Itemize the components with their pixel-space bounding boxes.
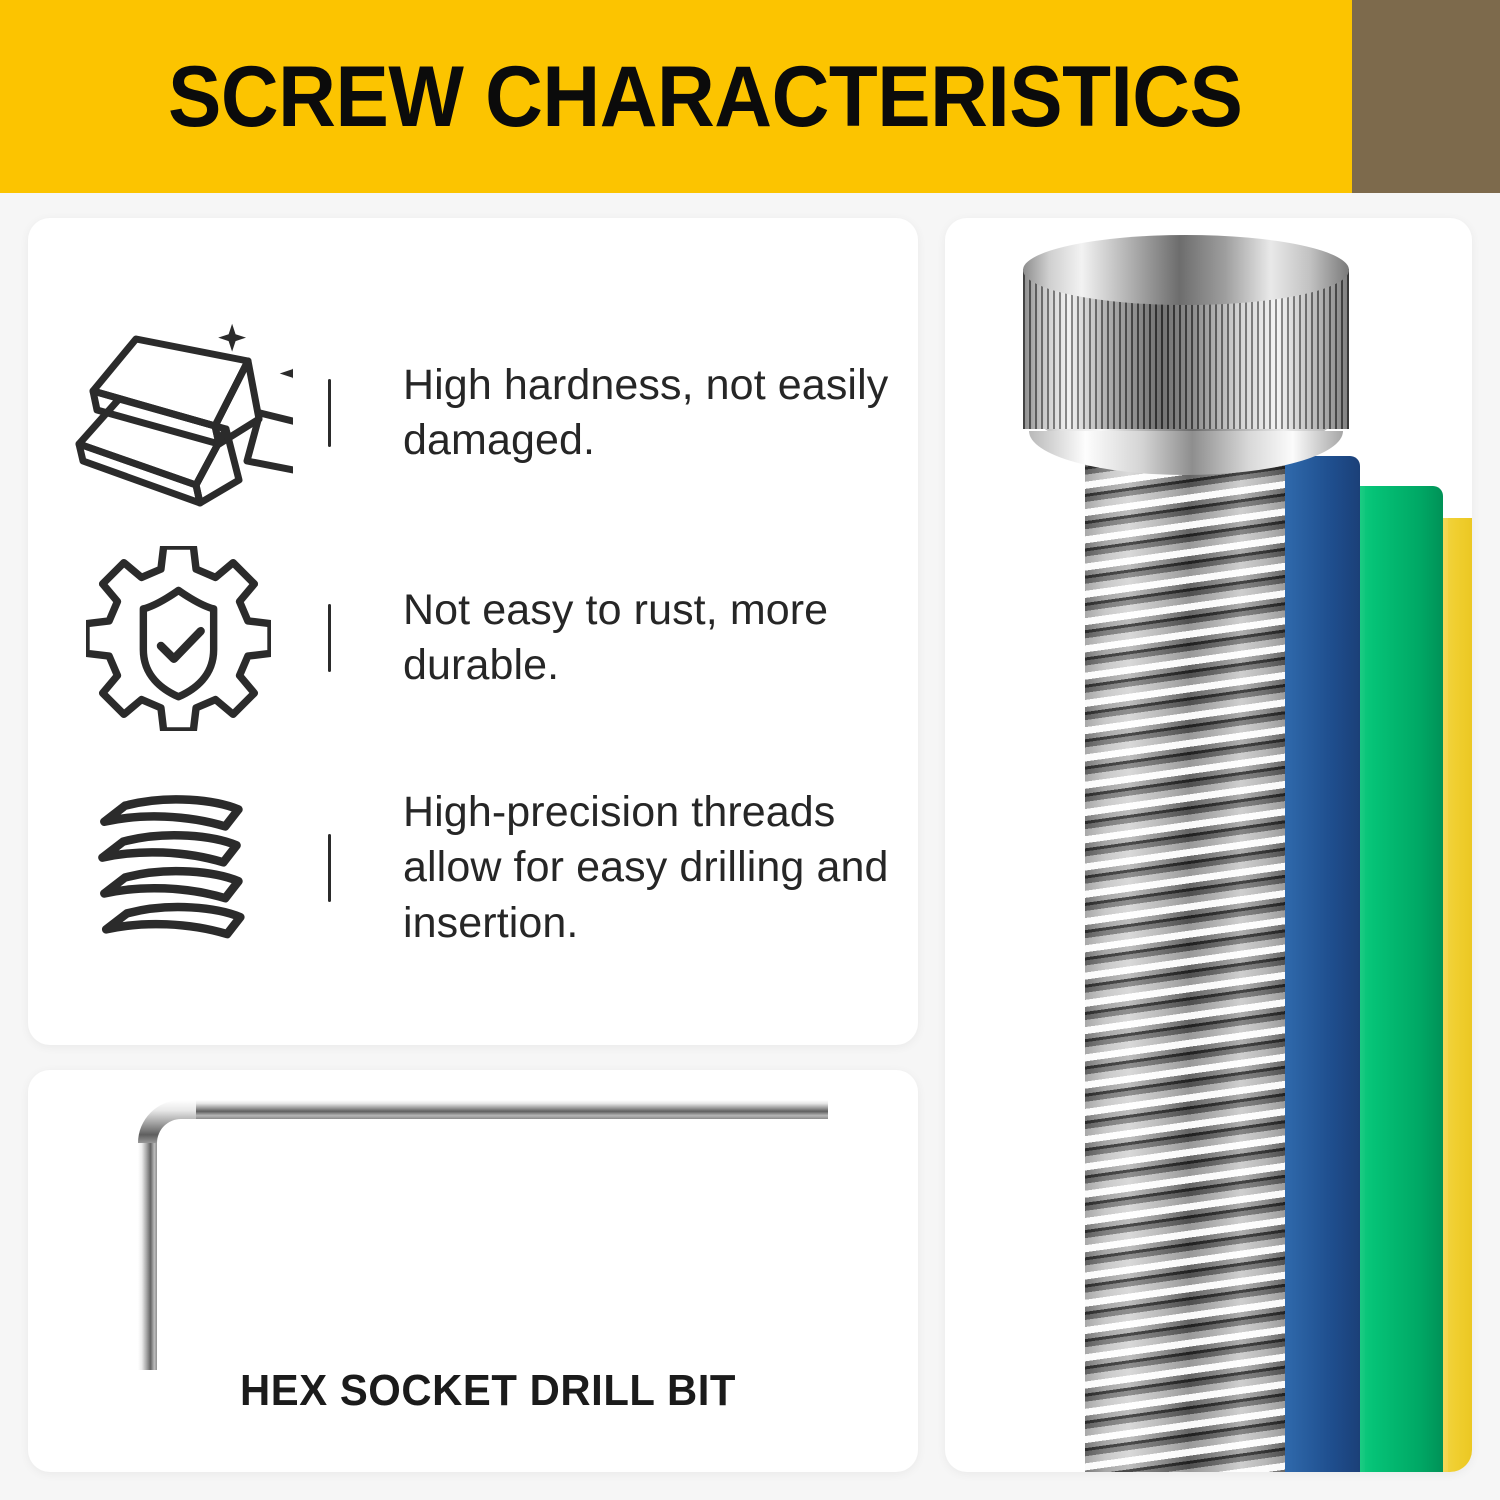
gear-shield-check-icon (28, 546, 328, 731)
screw-head-top-face (1023, 235, 1349, 305)
feature-text: High hardness, not easily damaged. (331, 358, 918, 468)
feature-row: High-precision threads allow for easy dr… (28, 758, 918, 978)
header-banner: SCREW CHARACTERISTICS (0, 0, 1500, 193)
header-yellow-band: SCREW CHARACTERISTICS (0, 0, 1352, 193)
screw-thread-pattern (1085, 454, 1285, 1472)
hex-socket-drill-bit-label: HEX SOCKET DRILL BIT (240, 1366, 736, 1416)
screw-threaded-shaft (1085, 454, 1285, 1472)
infographic-page: SCREW CHARACTERISTICS (0, 0, 1500, 1500)
feature-row: Not easy to rust, more durable. (28, 538, 918, 738)
feature-text: High-precision threads allow for easy dr… (331, 785, 918, 950)
screw-knurled-head (1023, 235, 1349, 460)
product-image-card (945, 218, 1472, 1472)
feature-row: High hardness, not easily damaged. (28, 298, 918, 528)
hex-socket-drill-bit-card: HEX SOCKET DRILL BIT (28, 1070, 918, 1472)
metal-ingots-sparkle-icon (28, 313, 328, 513)
feature-text: Not easy to rust, more durable. (331, 583, 918, 693)
socket-head-cap-screw-icon (945, 218, 1472, 1472)
features-card: High hardness, not easily damaged. Not e… (28, 218, 918, 1045)
header-accent-strip (1352, 0, 1500, 193)
screw-threads-icon (28, 783, 328, 953)
page-title: SCREW CHARACTERISTICS (168, 54, 1242, 140)
